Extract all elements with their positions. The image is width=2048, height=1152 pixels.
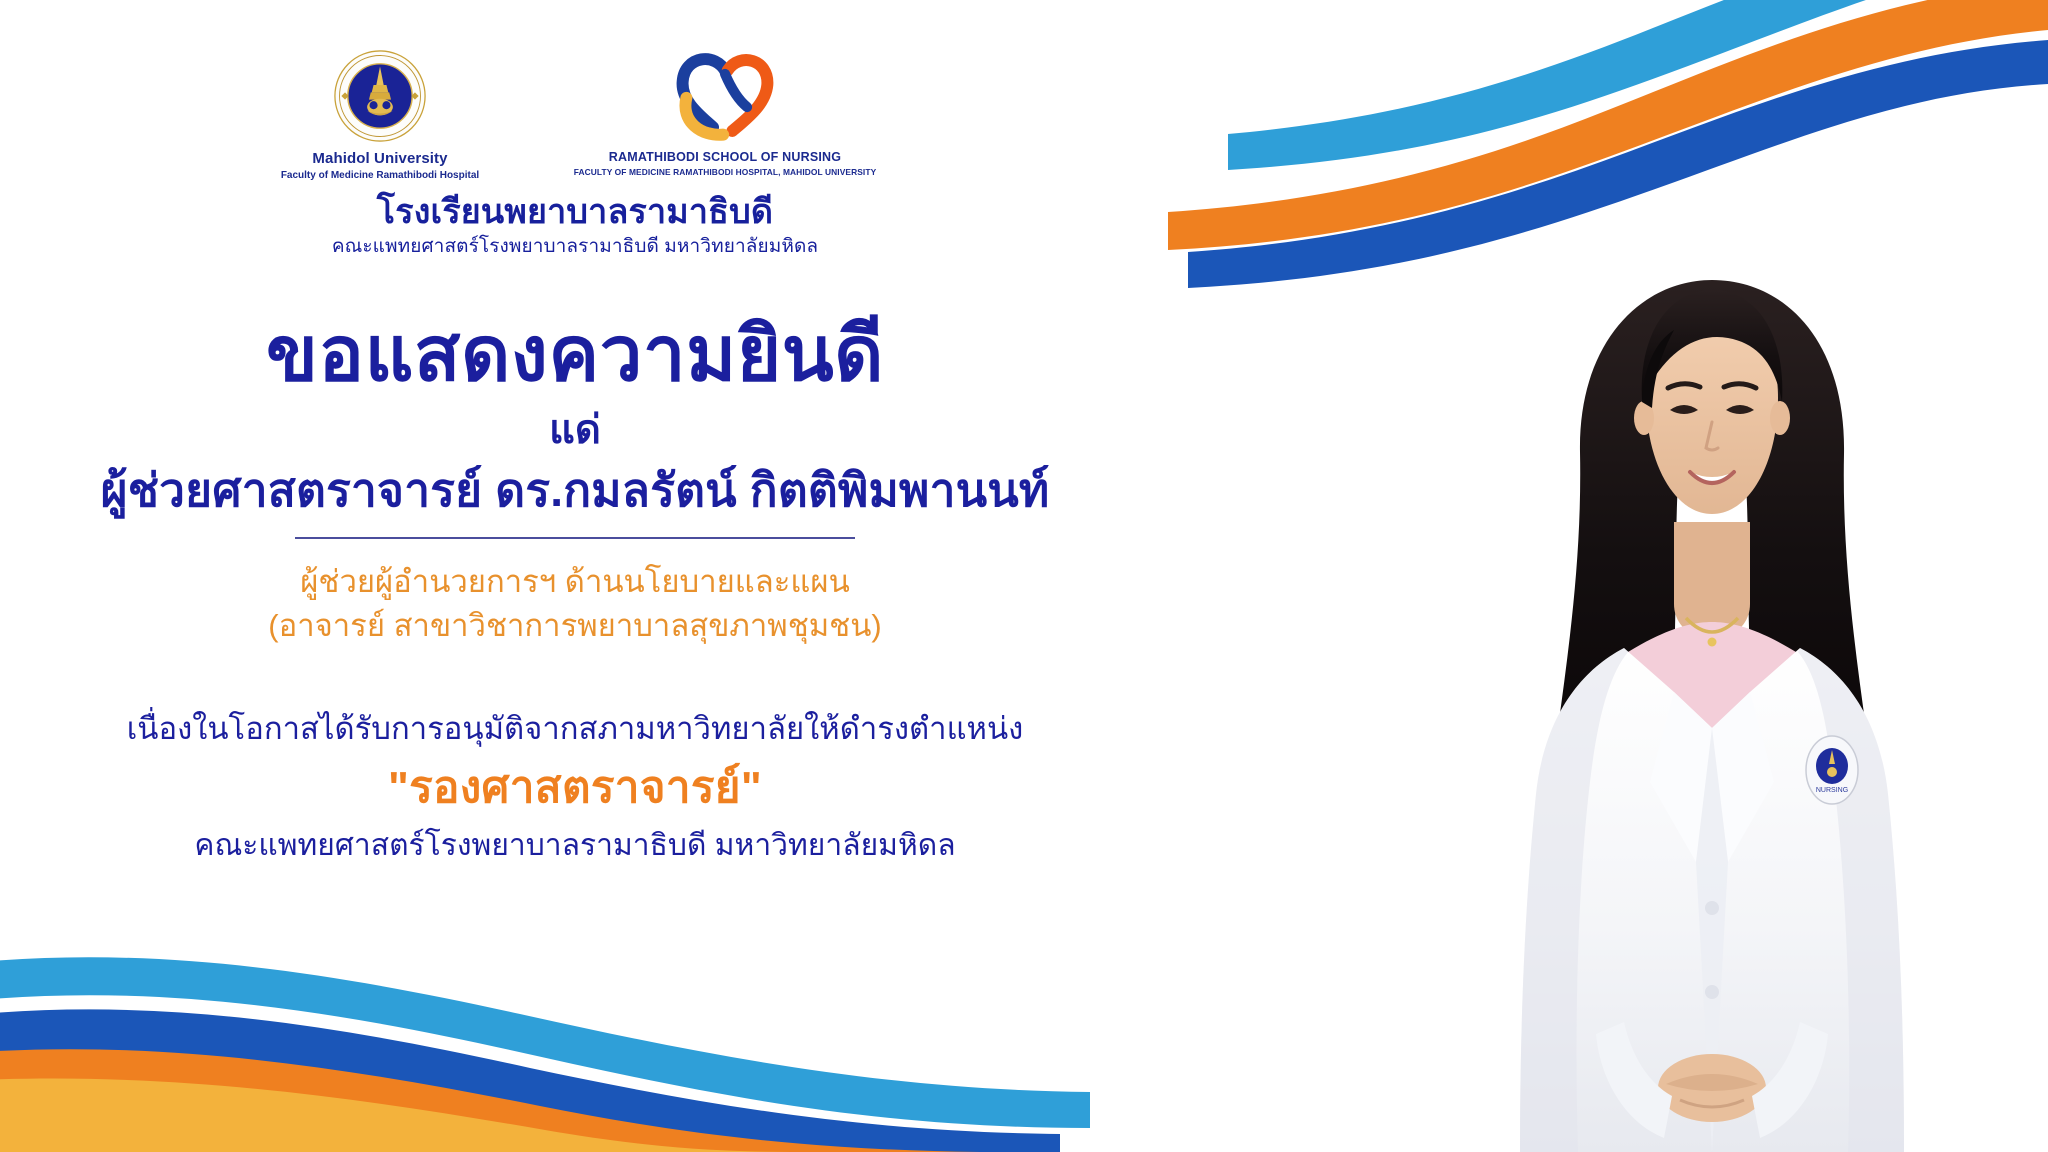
honoree-role-line-1: ผู้ช่วยผู้อำนวยการฯ ด้านนโยบายและแผน <box>300 561 850 603</box>
mahidol-logo-unit: Mahidol University Faculty of Medicine R… <box>260 50 500 182</box>
ramathibodi-heart-logo-icon <box>665 50 785 142</box>
organization-affiliation-thai: คณะแพทยศาสตร์โรงพยาบาลรามาธิบดี มหาวิทยา… <box>332 236 818 259</box>
affiliation-footer: คณะแพทยศาสตร์โรงพยาบาลรามาธิบดี มหาวิทยา… <box>194 826 955 865</box>
occasion-text: เนื่องในโอกาสได้รับการอนุมัติจากสภามหาวิ… <box>127 709 1024 749</box>
honoree-name: ผู้ช่วยศาสตราจารย์ ดร.กมลรัตน์ กิตติพิมพ… <box>101 465 1050 516</box>
mahidol-university-seal-icon <box>334 50 426 142</box>
divider-rule <box>295 537 855 539</box>
svg-text:NURSING: NURSING <box>1816 787 1848 794</box>
logo-header: Mahidol University Faculty of Medicine R… <box>0 50 1150 258</box>
new-academic-rank: "รองศาสตราจารย์" <box>388 763 762 814</box>
logo-row: Mahidol University Faculty of Medicine R… <box>260 50 890 182</box>
mahidol-caption-secondary: Faculty of Medicine Ramathibodi Hospital <box>281 170 479 182</box>
nursing-caption-secondary: FACULTY OF MEDICINE RAMATHIBODI HOSPITAL… <box>574 167 877 177</box>
honoree-role-line-2: (อาจารย์ สาขาวิชาการพยาบาลสุขภาพชุมชน) <box>268 605 881 647</box>
nursing-caption-primary: RAMATHIBODI SCHOOL OF NURSING <box>609 150 841 164</box>
message-column: ขอแสดงความยินดี แด่ ผู้ช่วยศาสตราจารย์ ด… <box>0 315 1150 865</box>
preposition-label: แด่ <box>549 409 601 451</box>
nursing-logo-unit: RAMATHIBODI SCHOOL OF NURSING FACULTY OF… <box>560 50 890 177</box>
organization-name-thai: โรงเรียนพยาบาลรามาธิบดี <box>377 194 773 231</box>
honoree-portrait: NURSING <box>1428 222 1988 1152</box>
mahidol-caption-primary: Mahidol University <box>312 150 447 167</box>
congratulations-headline: ขอแสดงความยินดี <box>266 315 884 395</box>
